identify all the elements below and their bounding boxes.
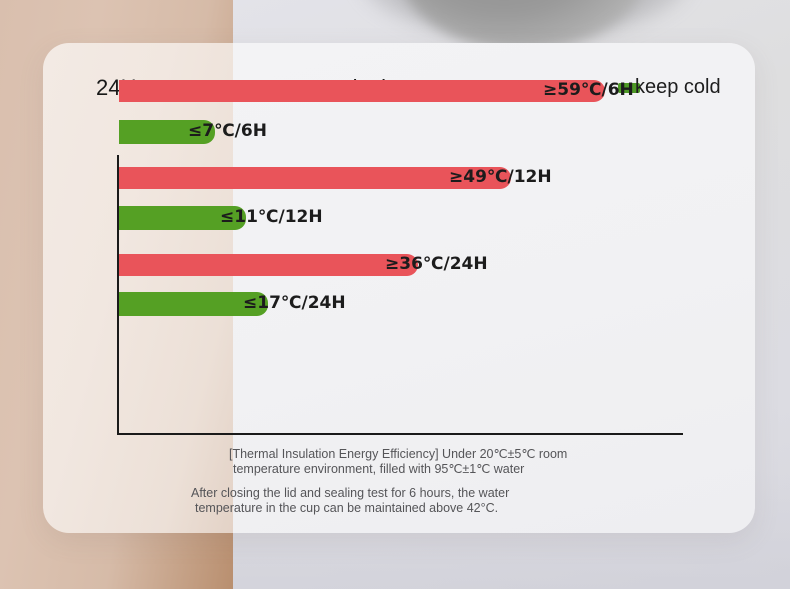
legend-label-keep-cold: keep cold [635, 76, 721, 99]
bar-warm-0 [119, 80, 605, 102]
footnote-line-2: temperature environment, filled with 95℃… [233, 462, 711, 477]
chart-card: 24H vacuum temperature lock keep warm ke… [43, 43, 755, 533]
footnote-line-1: [Thermal Insulation Energy Efficiency] U… [229, 447, 711, 462]
footnote-line-4: temperature in the cup can be maintained… [195, 501, 711, 516]
bar-value-label-5: ≤17℃/24H [243, 293, 346, 313]
bar-value-label-2: ≥49℃/12H [449, 167, 552, 187]
footnote-block: [Thermal Insulation Energy Efficiency] U… [191, 447, 711, 516]
footnote-line-3: After closing the lid and sealing test f… [191, 486, 711, 501]
bar-value-label-1: ≤7℃/6H [188, 121, 267, 141]
bar-value-label-4: ≥36℃/24H [385, 254, 488, 274]
chart-x-axis [117, 433, 683, 435]
bar-value-label-0: ≥59℃/6H [543, 80, 634, 100]
product-infographic-scene: 24H vacuum temperature lock keep warm ke… [0, 0, 790, 589]
bar-warm-4 [119, 254, 418, 276]
bar-value-label-3: ≤11℃/12H [220, 207, 323, 227]
